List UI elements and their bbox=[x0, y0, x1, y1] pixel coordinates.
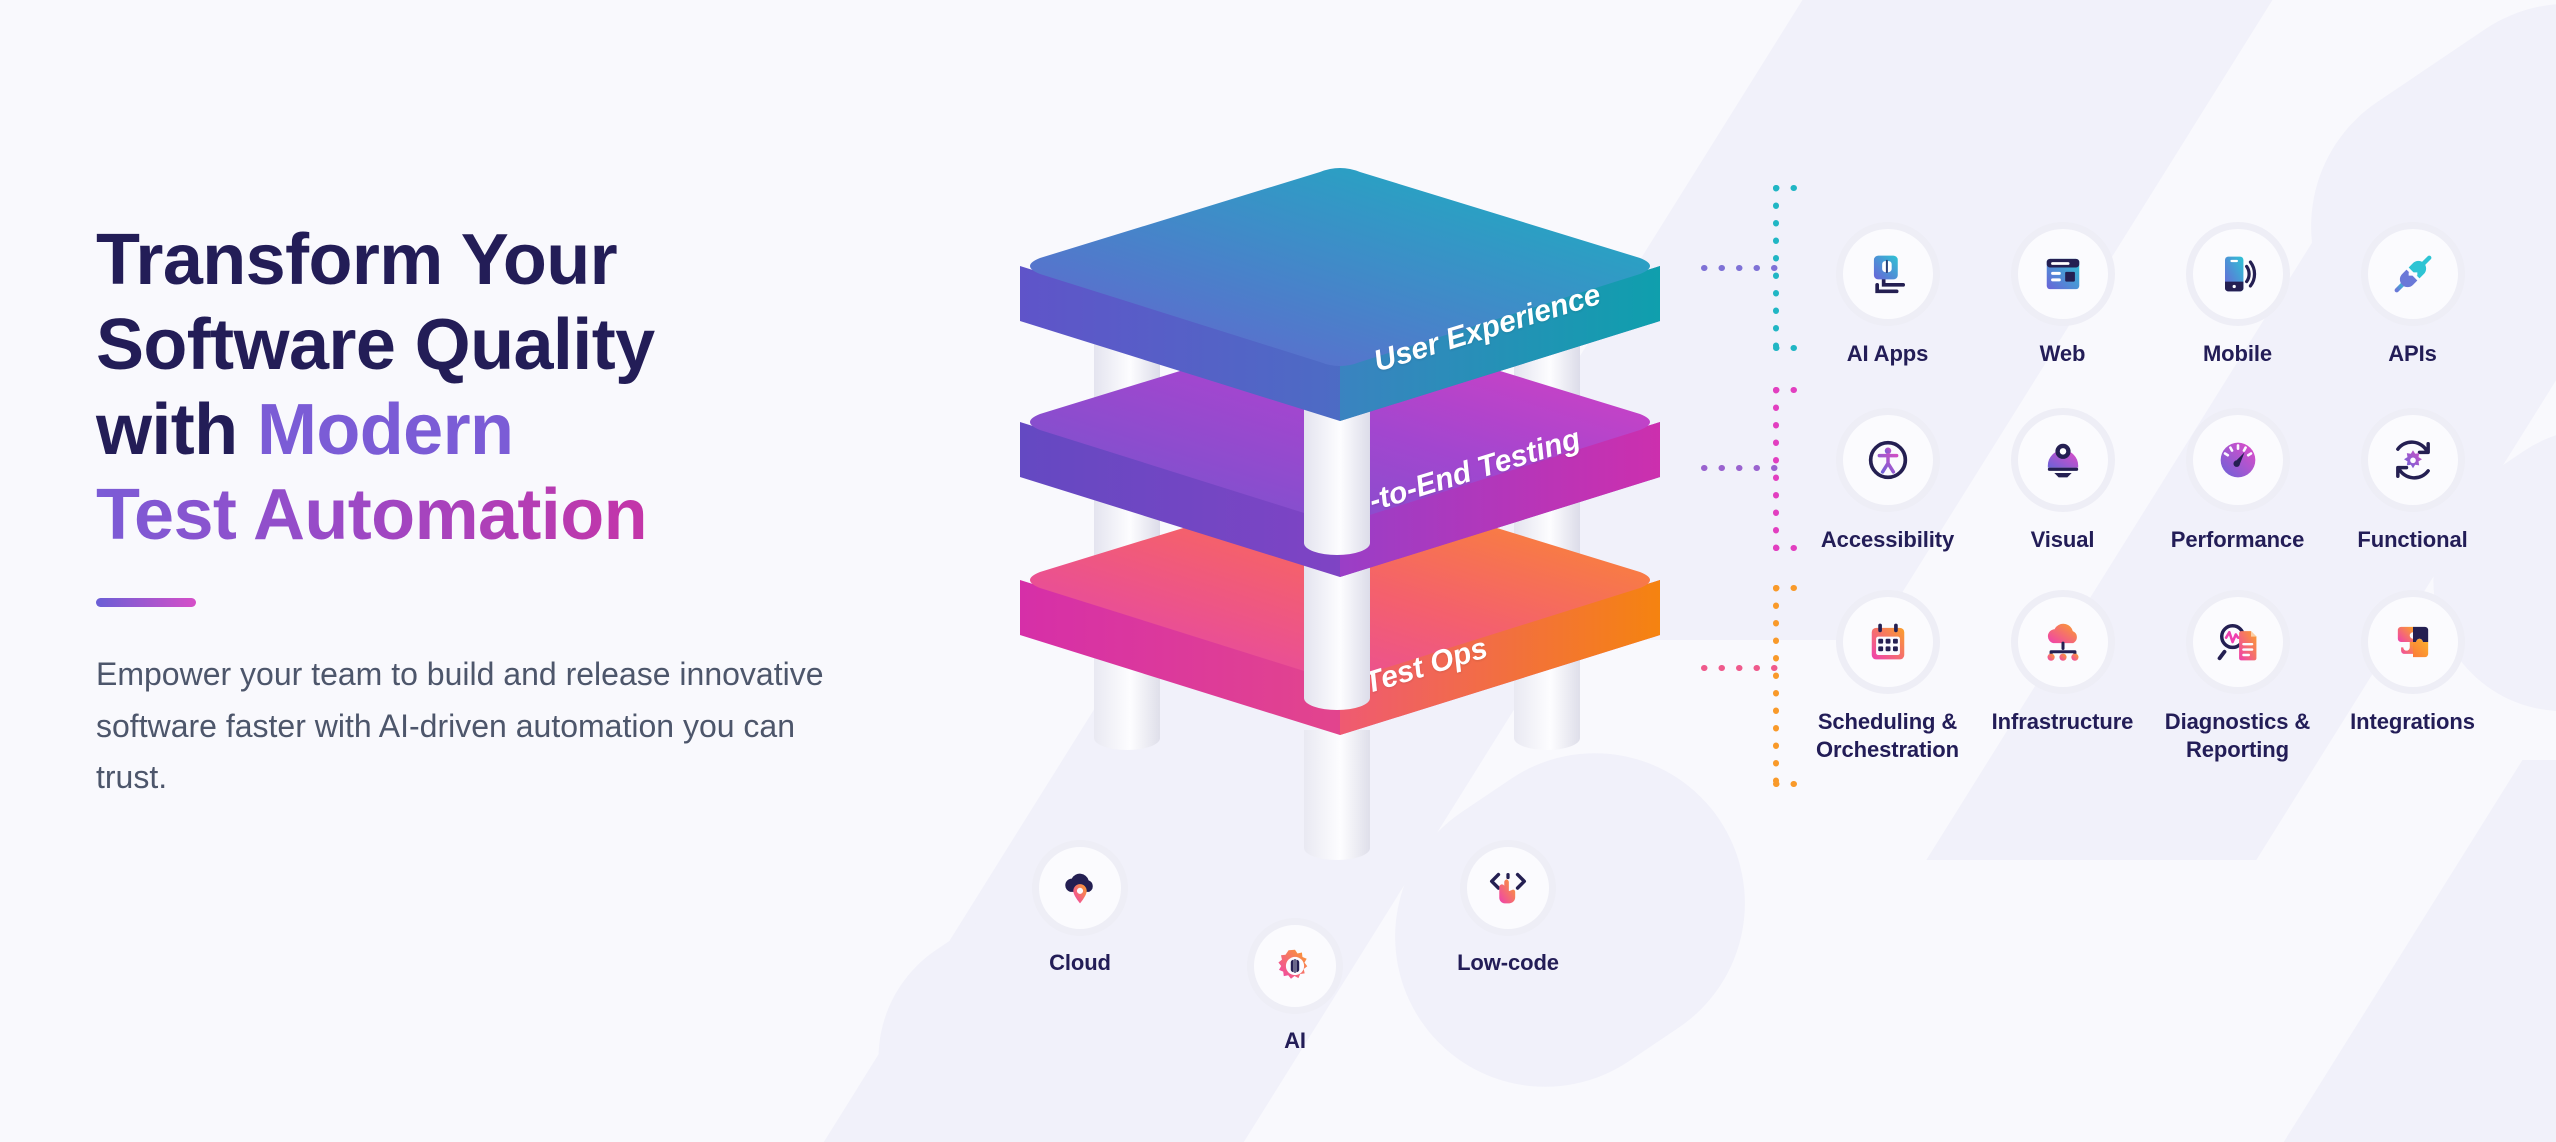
diagnostics-report-icon bbox=[2212, 616, 2264, 668]
capability-infrastructure[interactable]: Infrastructure bbox=[1975, 590, 2150, 764]
capability-label: Web bbox=[2040, 340, 2086, 368]
mobile-phone-icon bbox=[2212, 248, 2264, 300]
foundation-label: AI bbox=[1284, 1027, 1306, 1055]
capability-row-1: AI Apps Web bbox=[1800, 222, 2500, 368]
capability-mobile[interactable]: Mobile bbox=[2150, 222, 2325, 368]
icon-ring bbox=[2361, 222, 2465, 326]
hero-section: Transform Your Software Quality with Mod… bbox=[0, 0, 2556, 1142]
capability-performance[interactable]: Performance bbox=[2150, 408, 2325, 554]
page-title: Transform Your Software Quality with Mod… bbox=[96, 218, 836, 558]
visual-eye-monitor-icon bbox=[2037, 434, 2089, 486]
cloud-pin-icon bbox=[1057, 865, 1103, 911]
icon-ring bbox=[2361, 590, 2465, 694]
foundation-low-code[interactable]: Low-code bbox=[1418, 840, 1598, 977]
headline-line-2: Software Quality bbox=[96, 305, 655, 385]
icon-ring bbox=[2186, 590, 2290, 694]
icon-ring bbox=[2011, 590, 2115, 694]
capability-label: Diagnostics & Reporting bbox=[2150, 708, 2325, 764]
capability-row-3: Scheduling & Orchestration Infrastructur… bbox=[1800, 590, 2500, 764]
headline-line-1: Transform Your bbox=[96, 220, 617, 300]
capability-label: Infrastructure bbox=[1992, 708, 2134, 736]
icon-ring bbox=[1032, 840, 1128, 936]
web-browser-icon bbox=[2037, 248, 2089, 300]
foundation-ai[interactable]: AI bbox=[1205, 918, 1385, 1055]
icon-ring bbox=[1836, 408, 1940, 512]
icon-ring bbox=[2361, 408, 2465, 512]
plug-connector-icon bbox=[2387, 248, 2439, 300]
icon-ring bbox=[1247, 918, 1343, 1014]
low-code-hand-icon bbox=[1485, 865, 1531, 911]
capability-diagnostics-reporting[interactable]: Diagnostics & Reporting bbox=[2150, 590, 2325, 764]
stack-layer-user-experience: User Experience bbox=[1020, 166, 1660, 466]
icon-ring bbox=[2011, 222, 2115, 326]
capability-scheduling-orchestration[interactable]: Scheduling & Orchestration bbox=[1800, 590, 1975, 764]
capability-label: Integrations bbox=[2350, 708, 2475, 736]
functional-gear-refresh-icon bbox=[2387, 434, 2439, 486]
foundation-label: Cloud bbox=[1049, 949, 1111, 977]
headline-line-3-plain: with bbox=[96, 390, 257, 470]
accent-divider bbox=[96, 598, 196, 607]
bg-parallelogram-4 bbox=[2198, 760, 2556, 1142]
foundation-label: Low-code bbox=[1457, 949, 1559, 977]
icon-ring bbox=[1836, 590, 1940, 694]
calendar-schedule-icon bbox=[1862, 616, 1914, 668]
icon-ring bbox=[2186, 222, 2290, 326]
puzzle-integrations-icon bbox=[2387, 616, 2439, 668]
capability-apis[interactable]: APIs bbox=[2325, 222, 2500, 368]
hero-copy: Transform Your Software Quality with Mod… bbox=[96, 218, 836, 804]
hero-subcopy: Empower your team to build and release i… bbox=[96, 649, 836, 804]
icon-ring bbox=[2011, 408, 2115, 512]
ai-gear-brain-icon bbox=[1272, 943, 1318, 989]
capability-label: Performance bbox=[2171, 526, 2304, 554]
capability-functional[interactable]: Functional bbox=[2325, 408, 2500, 554]
capability-ai-apps[interactable]: AI Apps bbox=[1800, 222, 1975, 368]
ai-apps-icon bbox=[1862, 248, 1914, 300]
capability-integrations[interactable]: Integrations bbox=[2325, 590, 2500, 764]
cloud-infrastructure-icon bbox=[2037, 616, 2089, 668]
icon-ring bbox=[1836, 222, 1940, 326]
icon-ring bbox=[2186, 408, 2290, 512]
capability-label: Scheduling & Orchestration bbox=[1800, 708, 1975, 764]
capability-label: Mobile bbox=[2203, 340, 2272, 368]
capability-label: Accessibility bbox=[1821, 526, 1954, 554]
performance-gauge-icon bbox=[2212, 434, 2264, 486]
capability-visual[interactable]: Visual bbox=[1975, 408, 2150, 554]
isometric-stack-diagram: Test Ops bbox=[1020, 150, 1660, 870]
accessibility-person-icon bbox=[1862, 434, 1914, 486]
capability-grid: AI Apps Web bbox=[1800, 222, 2500, 765]
capability-label: APIs bbox=[2388, 340, 2437, 368]
capability-row-2: Accessibility Visual bbox=[1800, 408, 2500, 554]
headline-accent-modern: Modern bbox=[257, 390, 513, 470]
icon-ring bbox=[1460, 840, 1556, 936]
foundation-cloud[interactable]: Cloud bbox=[990, 840, 1170, 977]
capability-label: AI Apps bbox=[1847, 340, 1929, 368]
foundation-icons: Cloud AI bbox=[1080, 840, 1660, 1100]
capability-accessibility[interactable]: Accessibility bbox=[1800, 408, 1975, 554]
headline-accent-test-automation: Test Automation bbox=[96, 475, 647, 555]
capability-label: Visual bbox=[2031, 526, 2095, 554]
capability-label: Functional bbox=[2357, 526, 2467, 554]
capability-web[interactable]: Web bbox=[1975, 222, 2150, 368]
